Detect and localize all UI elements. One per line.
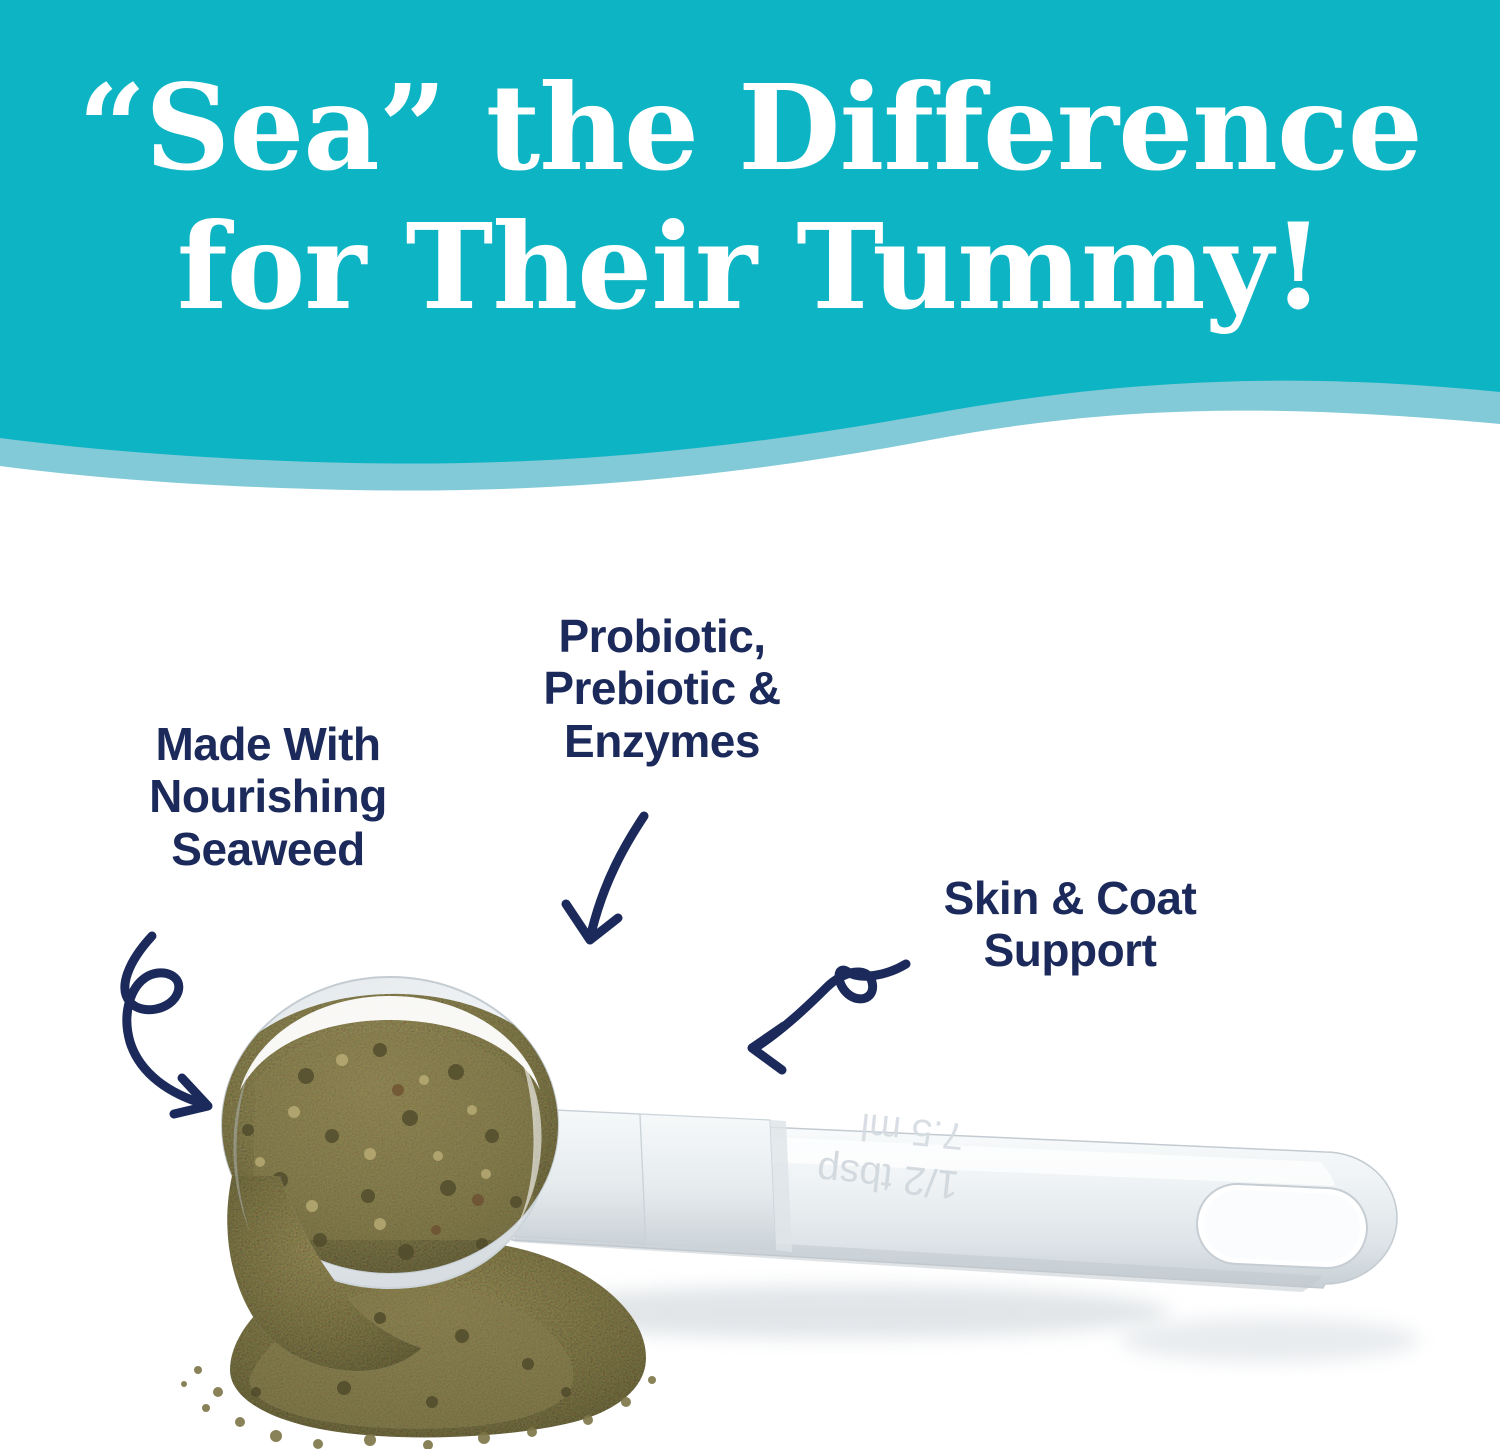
header-banner: “Sea” the Difference for Their Tummy! <box>0 0 1500 500</box>
curly-loop-arrow-down-left-icon <box>740 950 910 1080</box>
feature-label-skincoat: Skin & Coat Support <box>880 872 1260 977</box>
title-line-2: for Their Tummy! <box>34 197 1466 336</box>
handle-neck-segment-2 <box>640 1114 776 1250</box>
scoop-handle: 1/2 tbsp 7.5 ml <box>508 1100 1397 1292</box>
title-line-1: “Sea” the Difference <box>34 58 1466 197</box>
handle-tip-shadow <box>1120 1318 1420 1362</box>
probiotic-line-3: Enzymes <box>452 715 872 767</box>
infographic-page: “Sea” the Difference for Their Tummy! <box>0 0 1500 1449</box>
curly-loop-arrow-down-right-icon <box>108 918 328 1118</box>
page-title: “Sea” the Difference for Their Tummy! <box>0 58 1500 336</box>
handle-hole <box>1195 1182 1368 1270</box>
seaweed-line-2: Nourishing <box>58 770 478 822</box>
feature-label-seaweed: Made With Nourishing Seaweed <box>58 718 478 875</box>
skincoat-line-1: Skin & Coat <box>880 872 1260 924</box>
probiotic-line-1: Probiotic, <box>452 610 872 662</box>
feature-label-probiotic: Probiotic, Prebiotic & Enzymes <box>452 610 872 767</box>
seaweed-line-1: Made With <box>58 718 478 770</box>
probiotic-line-2: Prebiotic & <box>452 662 872 714</box>
skincoat-line-2: Support <box>880 924 1260 976</box>
curved-arrow-down-icon <box>548 800 688 960</box>
seaweed-line-3: Seaweed <box>58 823 478 875</box>
